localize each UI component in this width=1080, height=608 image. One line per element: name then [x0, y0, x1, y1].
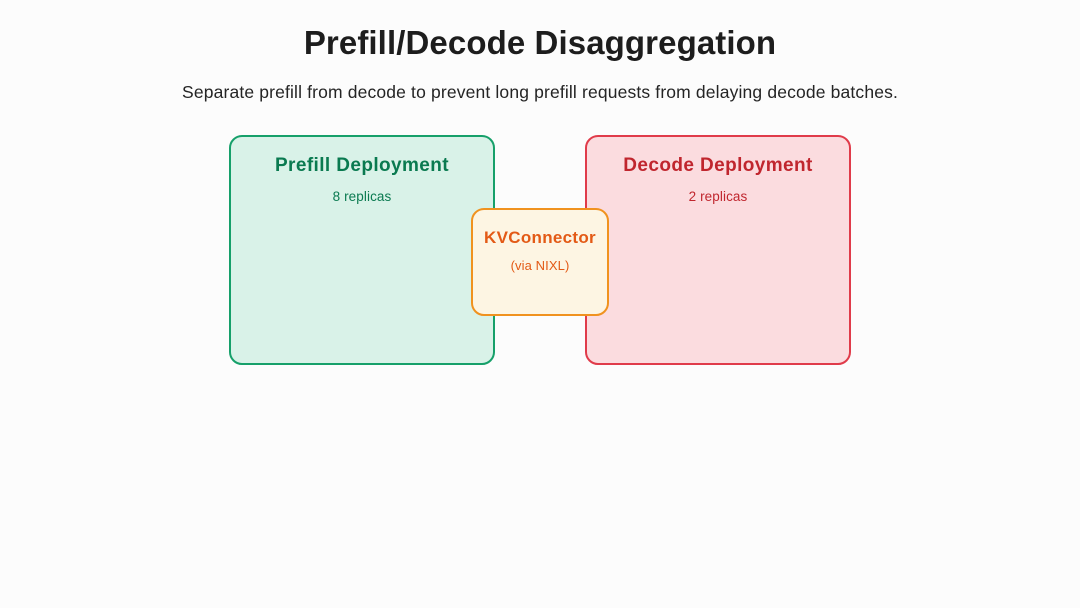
- prefill-deployment-title: Prefill Deployment: [231, 155, 493, 177]
- decode-deployment-box[interactable]: Decode Deployment 2 replicas: [585, 135, 851, 365]
- prefill-replica-count: 8 replicas: [231, 189, 493, 204]
- kvconnector-title: KVConnector: [473, 228, 607, 248]
- decode-deployment-title: Decode Deployment: [587, 155, 849, 177]
- disaggregation-diagram: Prefill Deployment 8 replicas Decode Dep…: [0, 0, 1080, 608]
- decode-replica-count: 2 replicas: [587, 189, 849, 204]
- kvconnector-box[interactable]: KVConnector (via NIXL): [471, 208, 609, 316]
- kvconnector-transport: (via NIXL): [473, 258, 607, 273]
- prefill-deployment-box[interactable]: Prefill Deployment 8 replicas: [229, 135, 495, 365]
